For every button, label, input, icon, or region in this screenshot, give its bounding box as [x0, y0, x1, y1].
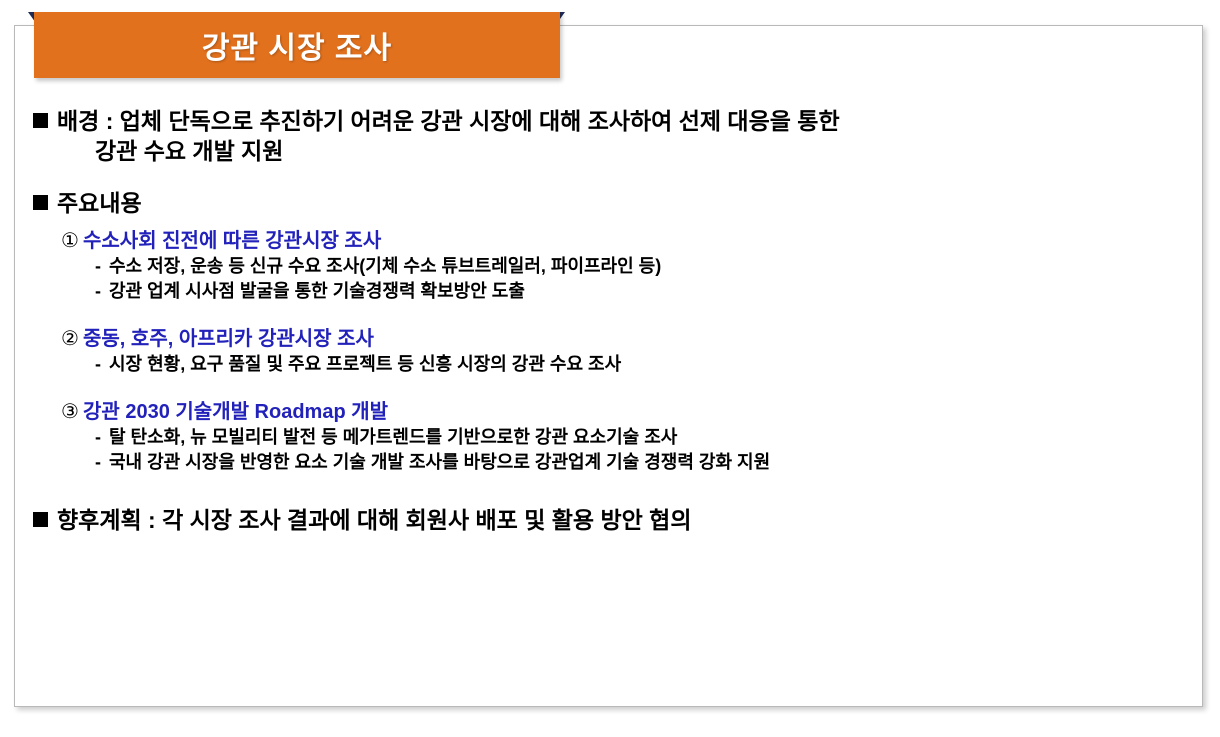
numbered-item-2-bullet-1-text: 시장 현황, 요구 품질 및 주요 프로젝트 등 신흥 시장의 강관 수요 조사	[109, 354, 621, 374]
numbered-item-1-bullet-2-text: 강관 업계 시사점 발굴을 통한 기술경쟁력 확보방안 도출	[109, 281, 525, 301]
dash-marker: -	[95, 254, 109, 279]
numbered-item-2: ②중동, 호주, 아프리카 강관시장 조사 -시장 현황, 요구 품질 및 주요…	[33, 326, 1184, 377]
numbered-item-2-heading-text: 중동, 호주, 아프리카 강관시장 조사	[83, 328, 374, 350]
section-main-content: 주요내용	[33, 188, 1184, 218]
numbered-item-1-bullet-2: -강관 업계 시사점 발굴을 통한 기술경쟁력 확보방안 도출	[33, 279, 1184, 304]
numbered-item-1-bullet-1: -수소 저장, 운송 등 신규 수요 조사(기체 수소 튜브트레일러, 파이프라…	[33, 254, 1184, 279]
number-marker-2: ②	[61, 326, 83, 352]
section-background: 배경 : 업체 단독으로 추진하기 어려운 강관 시장에 대해 조사하여 선제 …	[33, 106, 1184, 166]
section-future-plan: 향후계획 : 각 시장 조사 결과에 대해 회원사 배포 및 활용 방안 협의	[33, 505, 1184, 535]
title-ribbon: 강관 시장 조사	[20, 12, 560, 82]
numbered-item-3-heading: ③강관 2030 기술개발 Roadmap 개발	[33, 399, 1184, 425]
numbered-item-1: ①수소사회 진전에 따른 강관시장 조사 -수소 저장, 운송 등 신규 수요 …	[33, 228, 1184, 304]
square-bullet-icon	[33, 113, 48, 128]
numbered-item-3-bullet-2-text: 국내 강관 시장을 반영한 요소 기술 개발 조사를 바탕으로 강관업계 기술 …	[109, 452, 770, 472]
spacer	[33, 377, 1184, 399]
numbered-item-1-heading: ①수소사회 진전에 따른 강관시장 조사	[33, 228, 1184, 254]
slide-body: 배경 : 업체 단독으로 추진하기 어려운 강관 시장에 대해 조사하여 선제 …	[15, 98, 1202, 706]
section-future-plan-lead-line: 향후계획 : 각 시장 조사 결과에 대해 회원사 배포 및 활용 방안 협의	[33, 505, 1184, 535]
numbered-item-2-heading: ②중동, 호주, 아프리카 강관시장 조사	[33, 326, 1184, 352]
section-background-lead-line: 배경 : 업체 단독으로 추진하기 어려운 강관 시장에 대해 조사하여 선제 …	[33, 106, 1184, 136]
slide-frame: 강관 시장 조사 배경 : 업체 단독으로 추진하기 어려운 강관 시장에 대해…	[14, 25, 1203, 707]
number-marker-1: ①	[61, 228, 83, 254]
square-bullet-icon	[33, 195, 48, 210]
dash-marker: -	[95, 425, 109, 450]
section-main-content-lead-line: 주요내용	[33, 188, 1184, 218]
number-marker-3: ③	[61, 399, 83, 425]
section-main-content-lead-text: 주요내용	[57, 190, 142, 216]
numbered-item-3-bullet-1: -탈 탄소화, 뉴 모빌리티 발전 등 메가트렌드를 기반으로한 강관 요소기술…	[33, 425, 1184, 450]
square-bullet-icon	[33, 512, 48, 527]
numbered-item-3-heading-text: 강관 2030 기술개발 Roadmap 개발	[83, 401, 388, 423]
spacer	[33, 166, 1184, 188]
section-future-plan-lead-text: 향후계획 : 각 시장 조사 결과에 대해 회원사 배포 및 활용 방안 협의	[57, 507, 692, 533]
numbered-item-2-bullet-1: -시장 현황, 요구 품질 및 주요 프로젝트 등 신흥 시장의 강관 수요 조…	[33, 352, 1184, 377]
numbered-item-1-bullet-1-text: 수소 저장, 운송 등 신규 수요 조사(기체 수소 튜브트레일러, 파이프라인…	[109, 256, 661, 276]
spacer	[33, 218, 1184, 228]
spacer	[33, 304, 1184, 326]
dash-marker: -	[95, 279, 109, 304]
numbered-item-3-bullet-2: -국내 강관 시장을 반영한 요소 기술 개발 조사를 바탕으로 강관업계 기술…	[33, 450, 1184, 475]
slide-title: 강관 시장 조사	[34, 23, 560, 67]
dash-marker: -	[95, 450, 109, 475]
numbered-item-3-bullet-1-text: 탈 탄소화, 뉴 모빌리티 발전 등 메가트렌드를 기반으로한 강관 요소기술 …	[109, 427, 677, 447]
numbered-item-1-heading-text: 수소사회 진전에 따른 강관시장 조사	[83, 230, 381, 252]
dash-marker: -	[95, 352, 109, 377]
ribbon-banner: 강관 시장 조사	[34, 12, 560, 78]
spacer	[33, 475, 1184, 505]
section-background-lead-text: 배경 : 업체 단독으로 추진하기 어려운 강관 시장에 대해 조사하여 선제 …	[57, 108, 840, 134]
section-background-continuation: 강관 수요 개발 지원	[33, 136, 1184, 166]
numbered-item-3: ③강관 2030 기술개발 Roadmap 개발 -탈 탄소화, 뉴 모빌리티 …	[33, 399, 1184, 475]
